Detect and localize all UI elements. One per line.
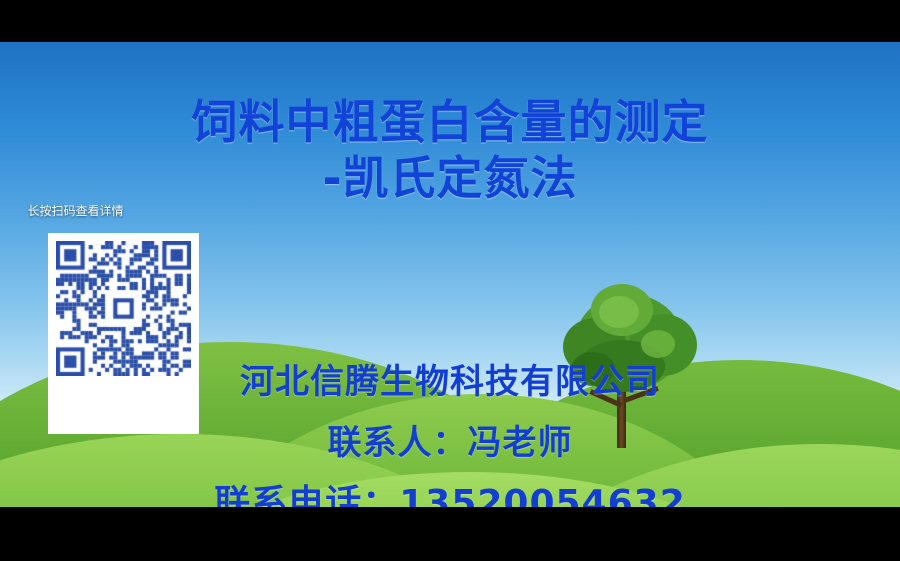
letterbox-top [0,0,900,42]
letterbox-bottom [0,507,900,561]
slide-title: 饲料中粗蛋白含量的测定 -凯氏定氮法 [0,94,900,206]
video-player-stage: 饲料中粗蛋白含量的测定 -凯氏定氮法 河北信腾生物科技有限公司 联系人：冯老师 … [0,0,900,561]
tree-foliage-highlight [599,296,639,328]
qr-code-image[interactable] [56,241,191,376]
title-primary-line: 饲料中粗蛋白含量的测定 [0,94,900,150]
title-secondary-line: -凯氏定氮法 [0,150,900,206]
qr-code-panel[interactable] [48,233,199,434]
qr-code-hint: 长按扫码查看详情 [0,202,151,219]
video-frame[interactable]: 饲料中粗蛋白含量的测定 -凯氏定氮法 河北信腾生物科技有限公司 联系人：冯老师 … [0,42,900,507]
contact-phone: 联系电话：13520054632 [0,474,900,507]
